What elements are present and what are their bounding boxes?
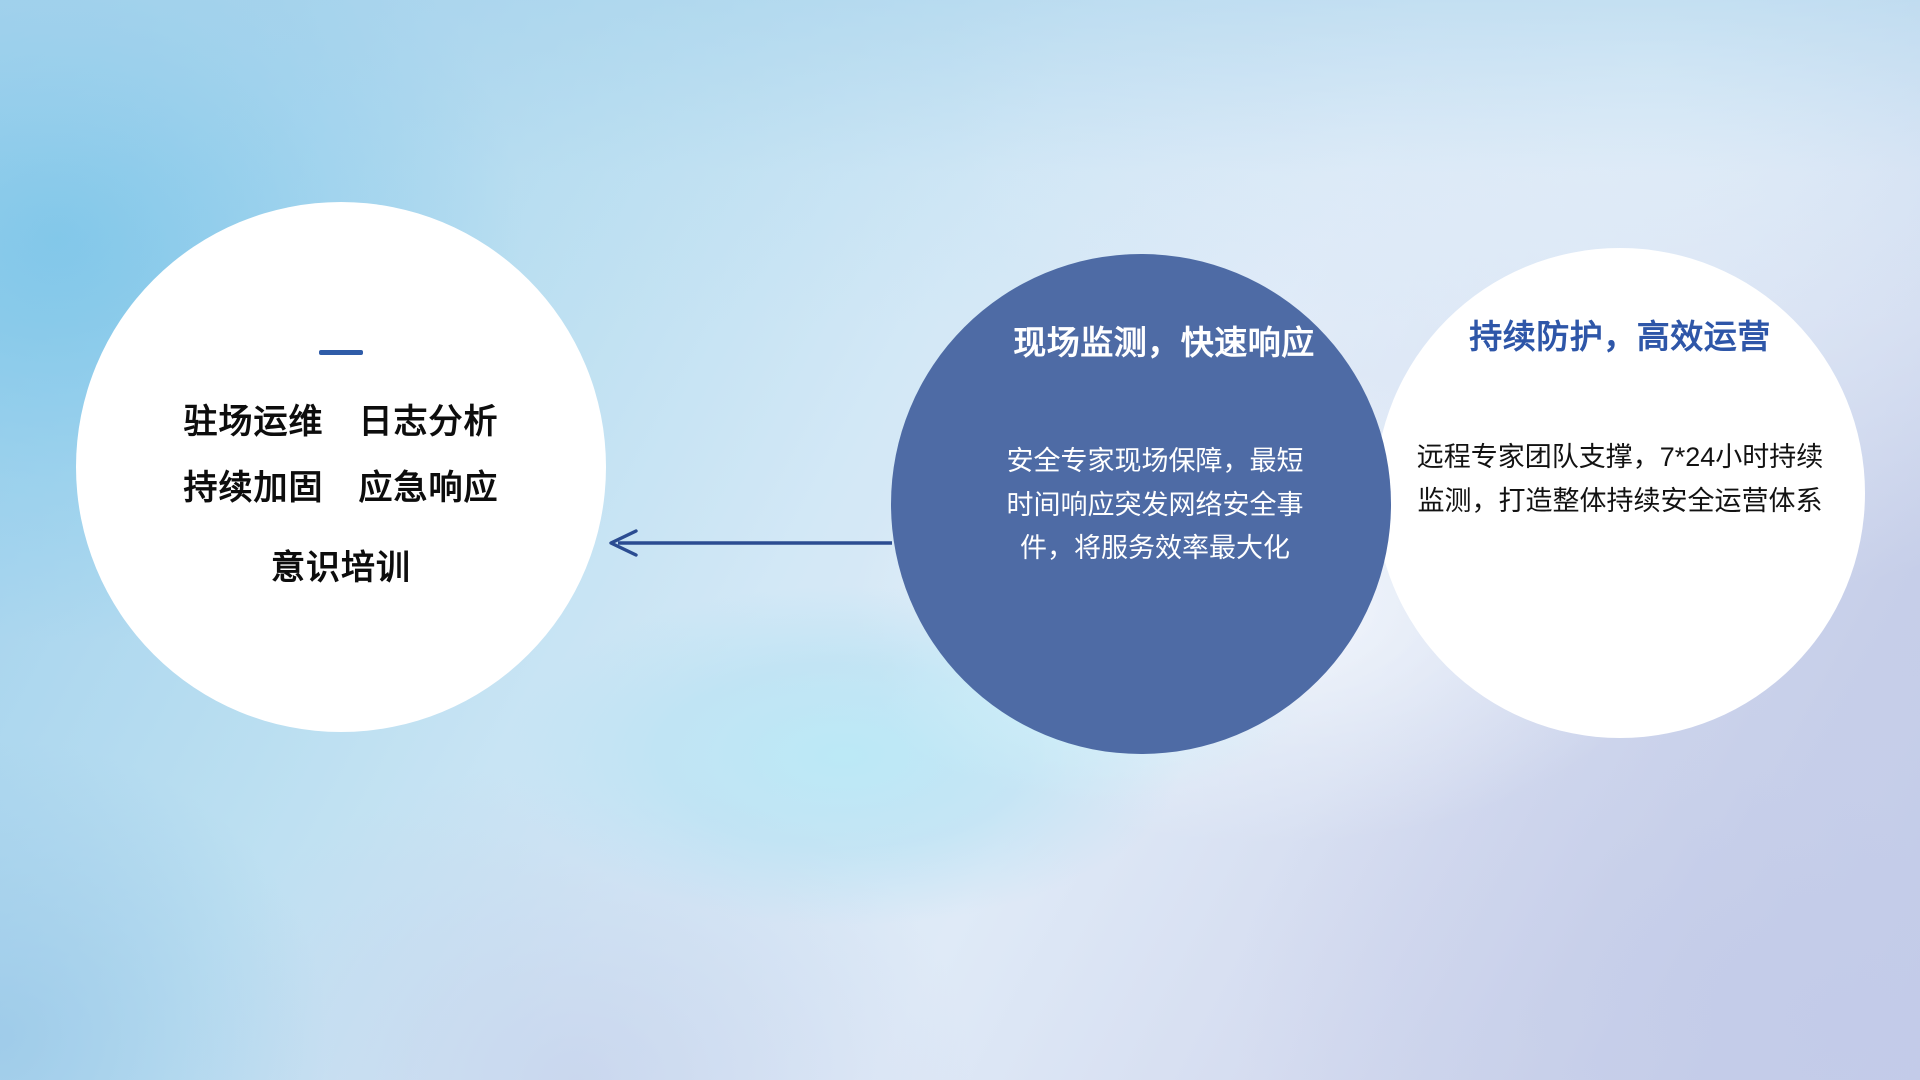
onsite-monitoring-circle[interactable]: 现场监测，快速响应 安全专家现场保障，最短时间响应突发网络安全事件，将服务效率最… [891, 254, 1391, 754]
onsite-monitoring-title: 现场监测，快速响应 [1013, 316, 1315, 364]
horizontal-dash-accent-icon [319, 350, 363, 355]
onsite-monitoring-circle-content: 现场监测，快速响应 安全专家现场保障，最短时间响应突发网络安全事件，将服务效率最… [891, 254, 1391, 754]
capabilities-circle[interactable]: 驻场运维 日志分析 持续加固 应急响应 意识培训 [76, 202, 606, 732]
slide-canvas: 驻场运维 日志分析 持续加固 应急响应 意识培训 持续防护，高效运营 远程专家团… [0, 0, 1920, 1080]
continuous-operations-circle[interactable]: 持续防护，高效运营 远程专家团队支撑，7*24小时持续监测，打造整体持续安全运营… [1375, 248, 1865, 738]
continuous-operations-body: 远程专家团队支撑，7*24小时持续监测，打造整体持续安全运营体系 [1410, 436, 1830, 523]
capabilities-circle-content: 驻场运维 日志分析 持续加固 应急响应 意识培训 [76, 202, 606, 732]
continuous-operations-circle-content: 持续防护，高效运营 远程专家团队支撑，7*24小时持续监测，打造整体持续安全运营… [1375, 248, 1865, 738]
continuous-operations-title: 持续防护，高效运营 [1469, 310, 1771, 358]
arrow-left-icon [596, 512, 896, 574]
capability-line-2: 持续加固 应急响应 [184, 471, 499, 505]
capability-line-1: 驻场运维 日志分析 [184, 405, 499, 439]
capability-line-3: 意识培训 [271, 551, 411, 585]
onsite-monitoring-body: 安全专家现场保障，最短时间响应突发网络安全事件，将服务效率最大化 [995, 440, 1315, 571]
flow-arrow-left [596, 512, 896, 574]
